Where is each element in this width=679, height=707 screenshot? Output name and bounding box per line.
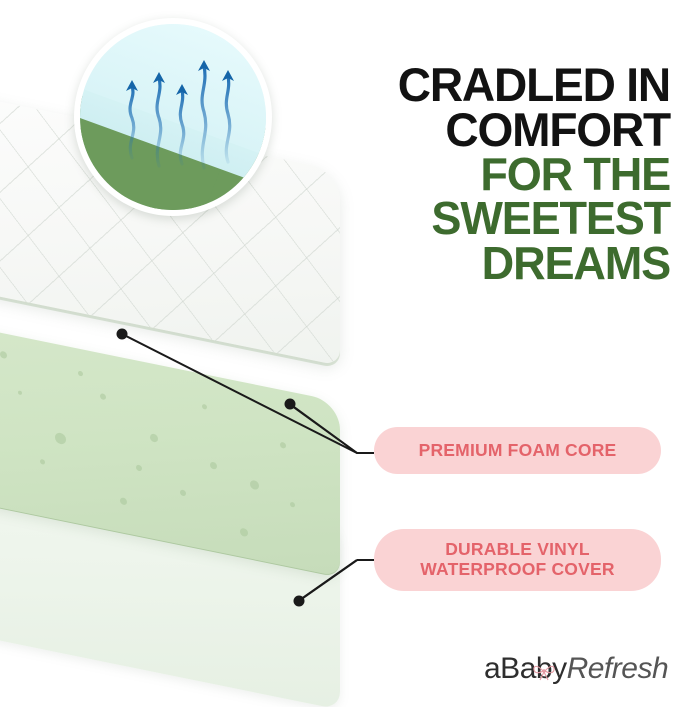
product-infographic: CRADLED IN COMFORT FOR THE SWEETEST DREA…	[0, 0, 679, 707]
pink-bow-icon	[531, 660, 557, 682]
callout-label-vinyl-line1: DURABLE VINYL	[445, 540, 590, 560]
callout-label-vinyl-line2: WATERPROOF COVER	[420, 560, 614, 580]
callout-badge-premium-foam-core: PREMIUM FOAM CORE	[374, 427, 661, 474]
brand-logo: aBabyRefresh	[484, 652, 670, 692]
brand-logo-text: aBabyRefresh	[484, 652, 668, 686]
callout-label-foam-line1: PREMIUM FOAM CORE	[419, 441, 617, 461]
leader-dot-top-layer	[117, 329, 128, 340]
callout-badge-durable-vinyl: DURABLE VINYL WATERPROOF COVER	[374, 529, 661, 591]
headline-line-1: CRADLED IN	[317, 62, 670, 107]
headline-line-3: FOR THE	[317, 152, 670, 196]
headline-line-5: DREAMS	[317, 241, 670, 285]
logo-text-part3: Refresh	[567, 652, 669, 685]
headline-line-4: SWEETEST	[317, 196, 670, 240]
leader-dot-vinyl-layer	[294, 596, 305, 607]
logo-text-part1: aB	[484, 652, 520, 685]
leader-dot-foam-layer	[285, 399, 296, 410]
headline-block: CRADLED IN COMFORT FOR THE SWEETEST DREA…	[310, 62, 670, 285]
headline-line-2: COMFORT	[317, 107, 670, 152]
